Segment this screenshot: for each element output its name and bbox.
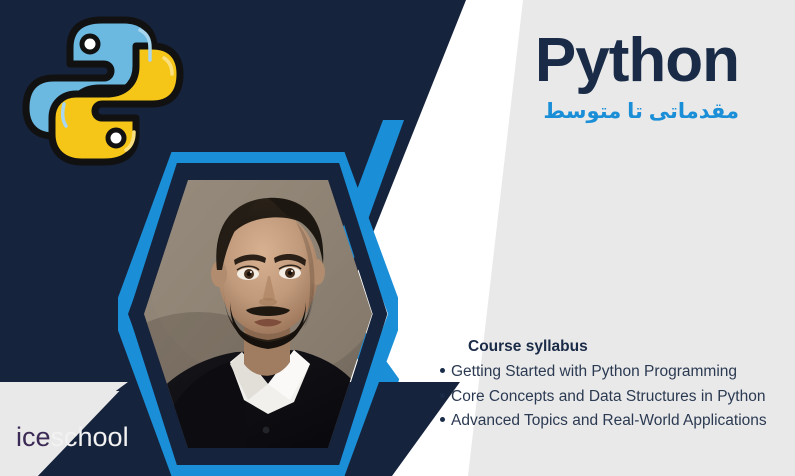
page-title: Python (535, 28, 739, 93)
course-poster: Python مقدماتی تا متوسط Course syllabus … (0, 0, 795, 476)
brand-logo: iceschool (16, 424, 129, 451)
syllabus-item-label: Getting Started with Python Programming (451, 364, 737, 380)
list-item: Advanced Topics and Real-World Applicati… (440, 413, 790, 429)
list-item: Getting Started with Python Programming (440, 364, 790, 380)
syllabus-item-label: Advanced Topics and Real-World Applicati… (451, 413, 767, 429)
hexagon-portrait-frame (118, 152, 398, 476)
bullet-icon (440, 393, 445, 398)
syllabus-block: Course syllabus Getting Started with Pyt… (440, 338, 790, 438)
bullet-icon (440, 368, 445, 373)
syllabus-heading: Course syllabus (468, 338, 790, 356)
brand-logo-school: school (51, 422, 129, 452)
list-item: Core Concepts and Data Structures in Pyt… (440, 389, 790, 405)
title-block: Python مقدماتی تا متوسط (535, 28, 739, 124)
course-subtitle: مقدماتی تا متوسط (535, 99, 739, 124)
brand-logo-ice: ice (16, 422, 51, 452)
bullet-icon (440, 417, 445, 422)
syllabus-item-label: Core Concepts and Data Structures in Pyt… (451, 389, 765, 405)
python-logo-icon (14, 8, 192, 174)
